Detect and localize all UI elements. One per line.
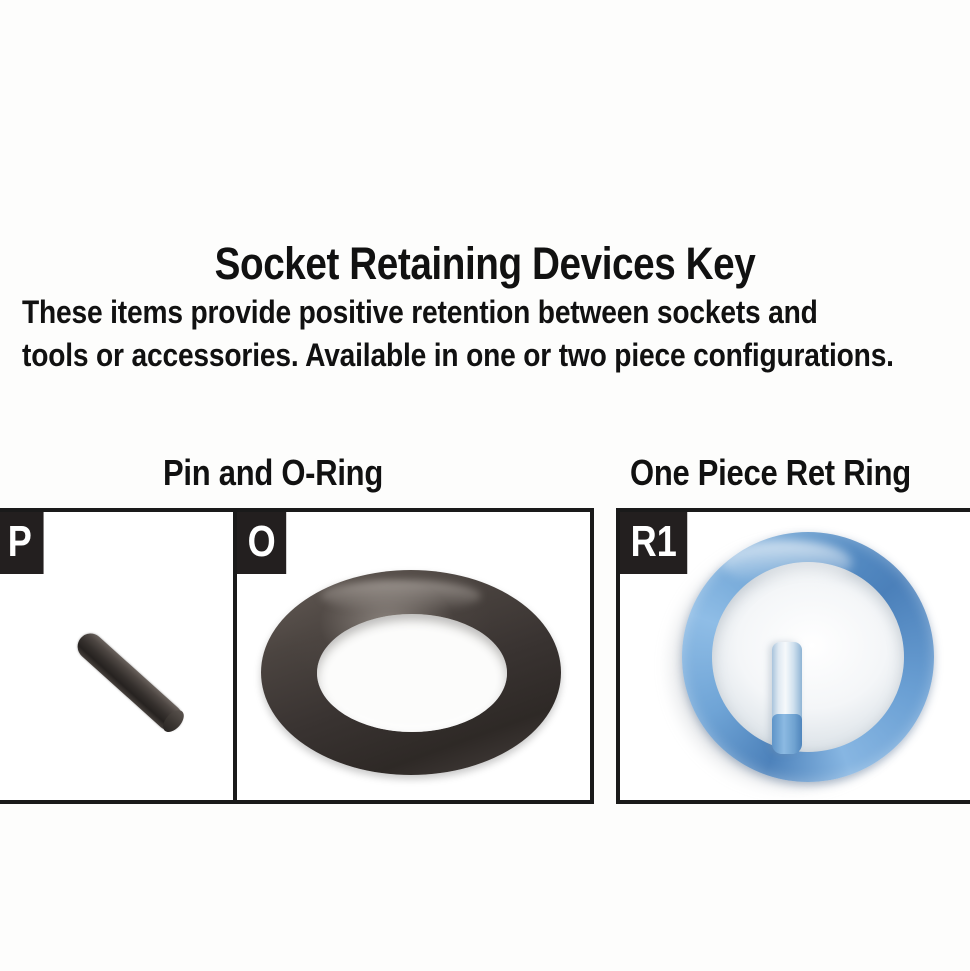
- panel-retaining-ring[interactable]: R1: [620, 512, 970, 800]
- panel-pin[interactable]: P: [0, 512, 237, 800]
- retaining-ring-image: [660, 520, 950, 800]
- oring-hole: [317, 614, 507, 732]
- panel-badge-p: P: [0, 512, 44, 574]
- pin-icon: [72, 628, 187, 736]
- header-block: Socket Retaining Devices Key These items…: [0, 240, 970, 378]
- panel-oring[interactable]: O: [237, 512, 590, 800]
- page-title: Socket Retaining Devices Key: [68, 240, 902, 291]
- description-line-1: These items provide positive retention b…: [22, 291, 856, 334]
- retaining-ring-inner: [712, 562, 904, 752]
- description-block: These items provide positive retention b…: [22, 291, 970, 377]
- panel-badge-r1: R1: [620, 512, 687, 574]
- panel-group-one-piece-ret-ring: R1: [616, 508, 970, 804]
- group-heading-one-piece-ret-ring: One Piece Ret Ring: [630, 452, 911, 494]
- panel-badge-o: O: [237, 512, 286, 574]
- pin-image: [46, 617, 181, 752]
- panel-group-pin-and-oring: P O: [0, 508, 594, 804]
- oring-image: [261, 570, 561, 775]
- group-heading-pin-and-oring: Pin and O-Ring: [163, 452, 383, 494]
- description-line-2: tools or accessories. Available in one o…: [22, 334, 856, 377]
- retaining-ring-peg: [772, 642, 802, 754]
